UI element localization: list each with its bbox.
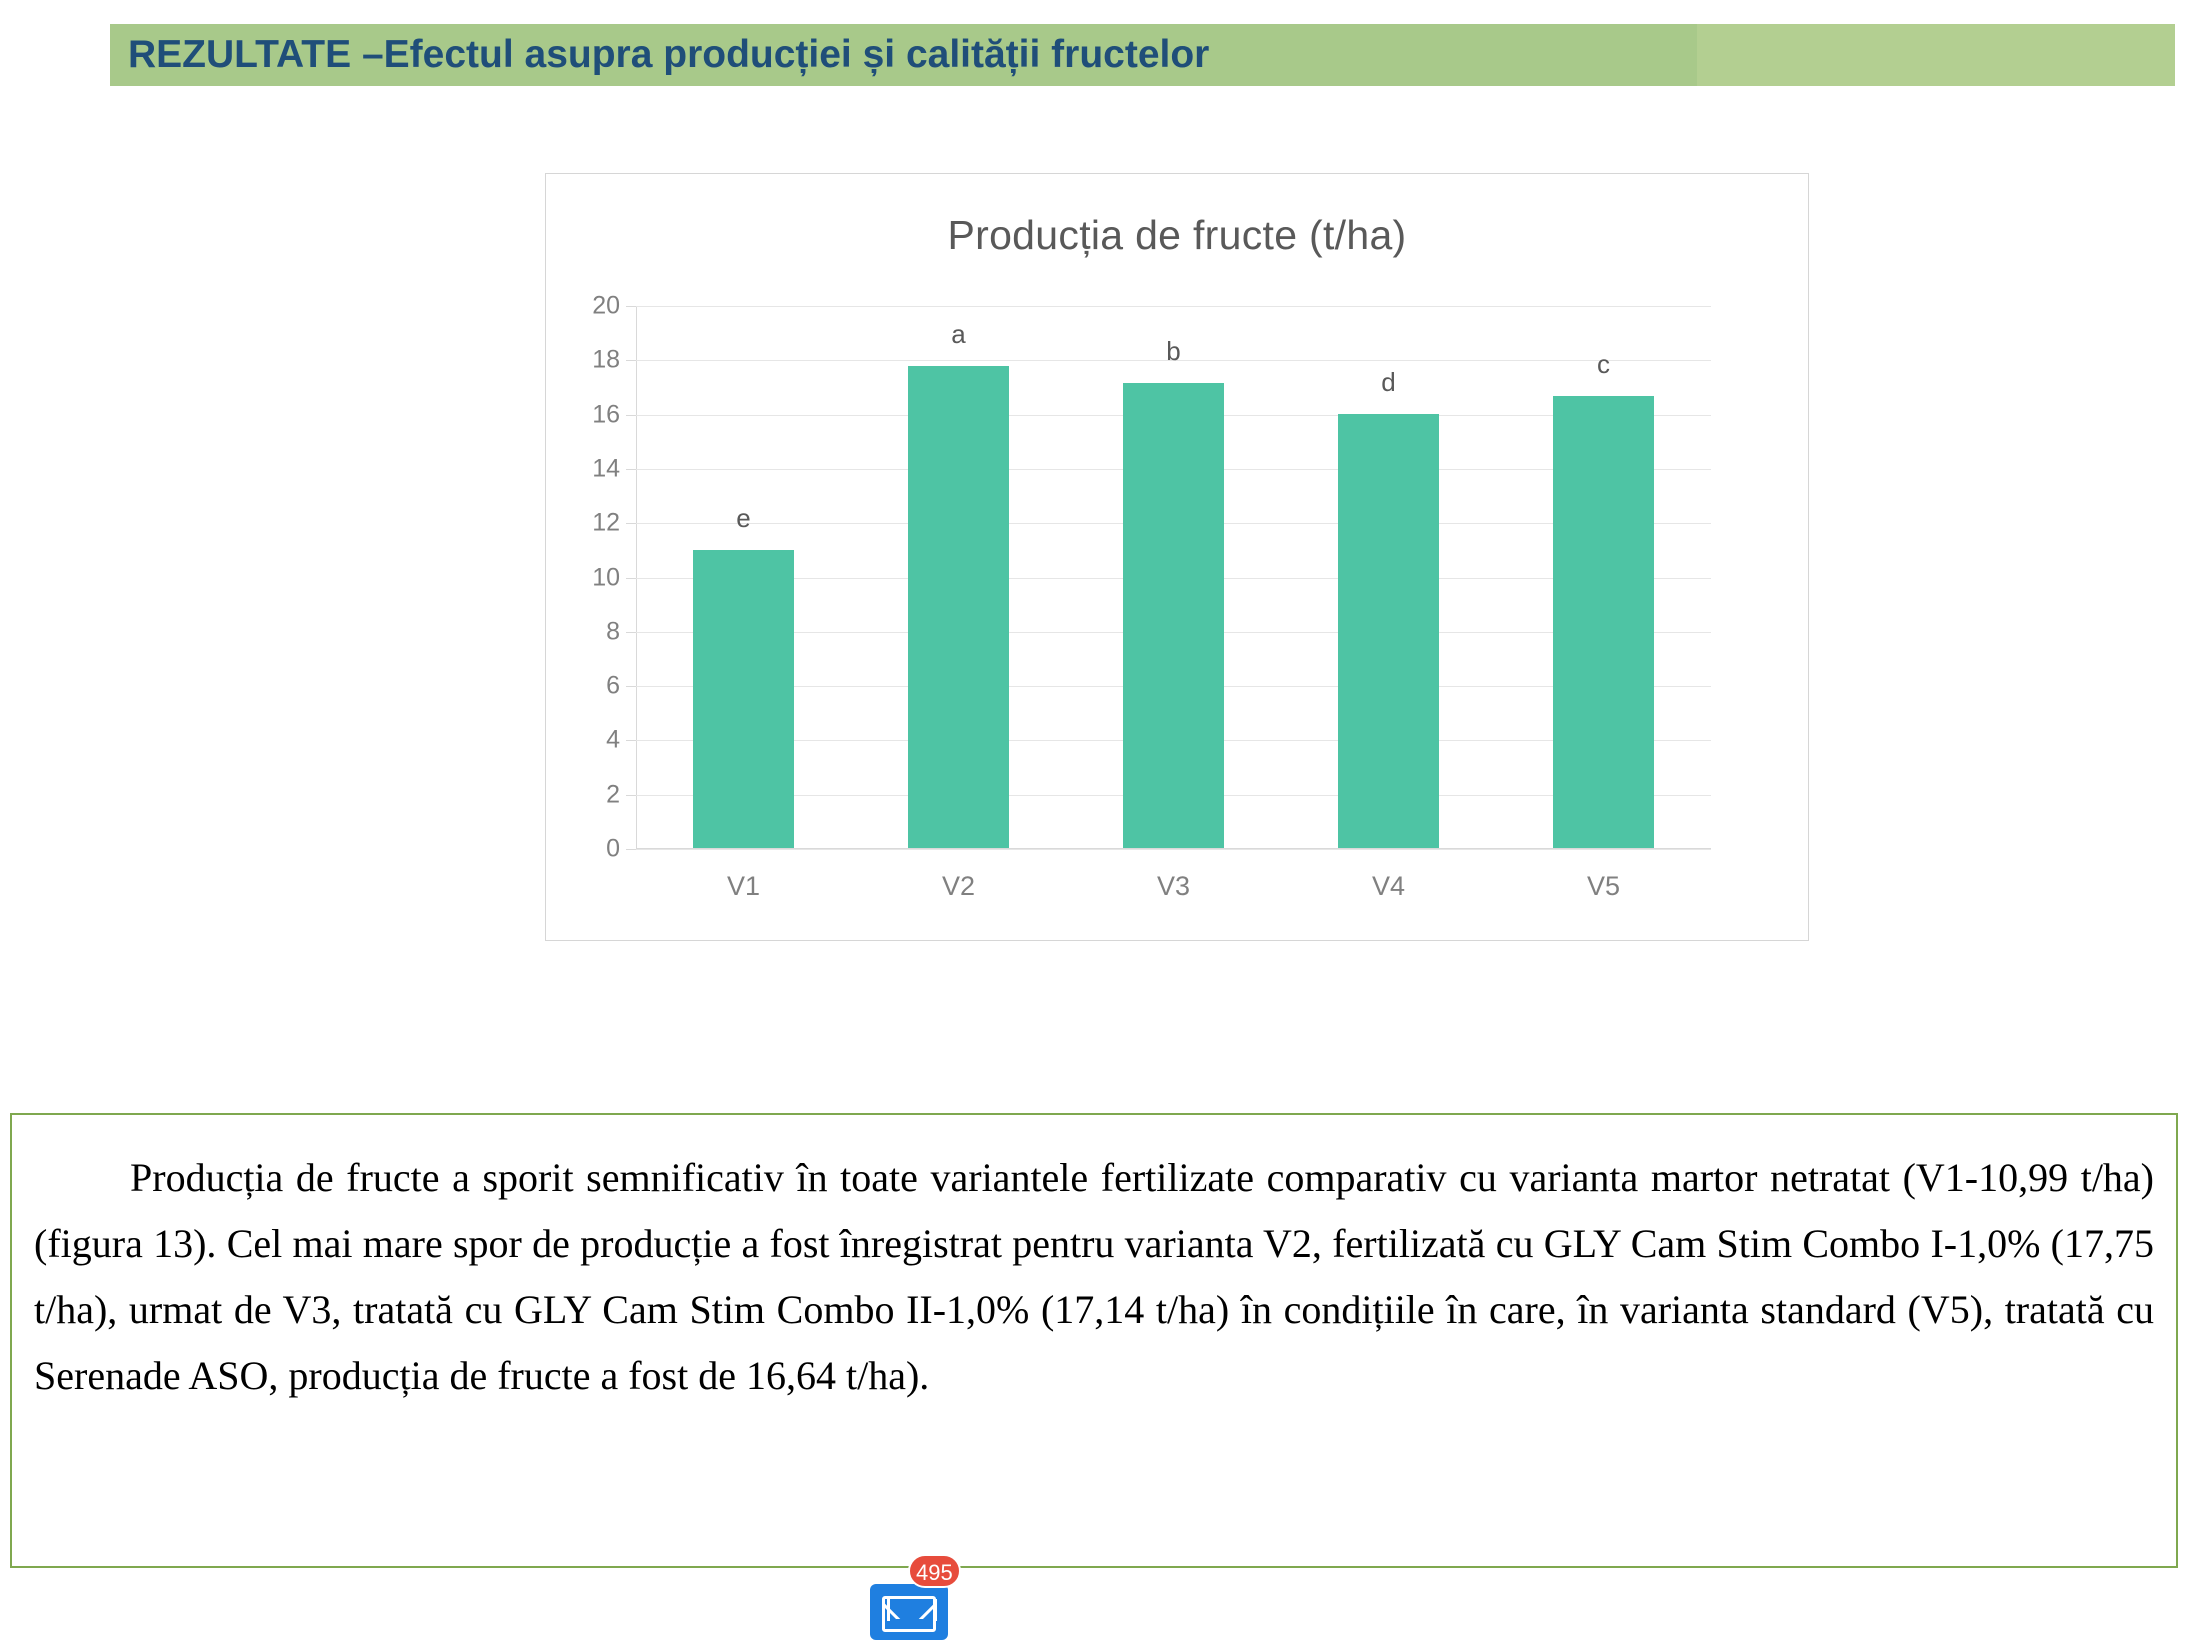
mail-taskbar-item[interactable]: 495 bbox=[862, 1588, 958, 1640]
bar-V1[interactable] bbox=[693, 550, 794, 848]
y-axis-tick-label: 12 bbox=[560, 509, 620, 538]
bar-annotation-V2: a bbox=[951, 319, 965, 350]
bar-V3[interactable] bbox=[1123, 383, 1224, 848]
y-axis-tick-label: 2 bbox=[560, 780, 620, 809]
x-axis-label-V3: V3 bbox=[1157, 871, 1190, 902]
x-axis-label-V5: V5 bbox=[1587, 871, 1620, 902]
y-axis-tick-label: 0 bbox=[560, 835, 620, 864]
bar-annotation-V5: c bbox=[1597, 349, 1610, 380]
body-paragraph: Producția de fructe a sporit semnificati… bbox=[34, 1145, 2154, 1409]
bar-annotation-V4: d bbox=[1381, 367, 1395, 398]
y-axis-tick-label: 14 bbox=[560, 454, 620, 483]
page-title: REZULTATE –Efectul asupra producției și … bbox=[128, 29, 1688, 81]
y-axis-tick-label: 4 bbox=[560, 726, 620, 755]
mail-unread-badge: 495 bbox=[908, 1554, 961, 1588]
y-axis-tick bbox=[626, 306, 636, 307]
y-axis-tick bbox=[626, 469, 636, 470]
y-axis-tick bbox=[626, 632, 636, 633]
bar-annotation-V1: e bbox=[736, 503, 750, 534]
y-axis-tick-label: 8 bbox=[560, 617, 620, 646]
bar-V2[interactable] bbox=[908, 366, 1009, 848]
y-axis-tick-label: 16 bbox=[560, 400, 620, 429]
chart-container: Producția de fructe (t/ha) 0246810121416… bbox=[545, 173, 1809, 941]
y-axis-tick-label: 6 bbox=[560, 672, 620, 701]
chart-title: Producția de fructe (t/ha) bbox=[546, 212, 1808, 259]
y-axis-tick bbox=[626, 686, 636, 687]
description-box: Producția de fructe a sporit semnificati… bbox=[10, 1113, 2178, 1568]
x-axis-label-V2: V2 bbox=[942, 871, 975, 902]
y-axis-tick-label: 20 bbox=[560, 292, 620, 321]
y-axis-tick bbox=[626, 578, 636, 579]
y-axis-tick bbox=[626, 523, 636, 524]
x-axis-label-V4: V4 bbox=[1372, 871, 1405, 902]
x-axis-label-V1: V1 bbox=[727, 871, 760, 902]
y-axis-tick bbox=[626, 849, 636, 850]
y-axis-tick bbox=[626, 415, 636, 416]
taskbar: 495 bbox=[0, 1588, 2198, 1640]
y-axis-tick bbox=[626, 795, 636, 796]
bar-V5[interactable] bbox=[1553, 396, 1654, 848]
gridline bbox=[636, 306, 1711, 307]
y-axis-tick-label: 10 bbox=[560, 563, 620, 592]
mail-icon[interactable] bbox=[870, 1584, 948, 1640]
y-axis-tick bbox=[626, 740, 636, 741]
gridline bbox=[636, 849, 1711, 850]
y-axis-tick bbox=[626, 360, 636, 361]
bar-V4[interactable] bbox=[1338, 414, 1439, 848]
y-axis-tick-label: 18 bbox=[560, 346, 620, 375]
envelope-flap-icon bbox=[883, 1597, 935, 1619]
bar-annotation-V3: b bbox=[1166, 336, 1180, 367]
chart-plot-area: 02468101214161820 eabdc V1V2V3V4V5 bbox=[636, 306, 1711, 849]
